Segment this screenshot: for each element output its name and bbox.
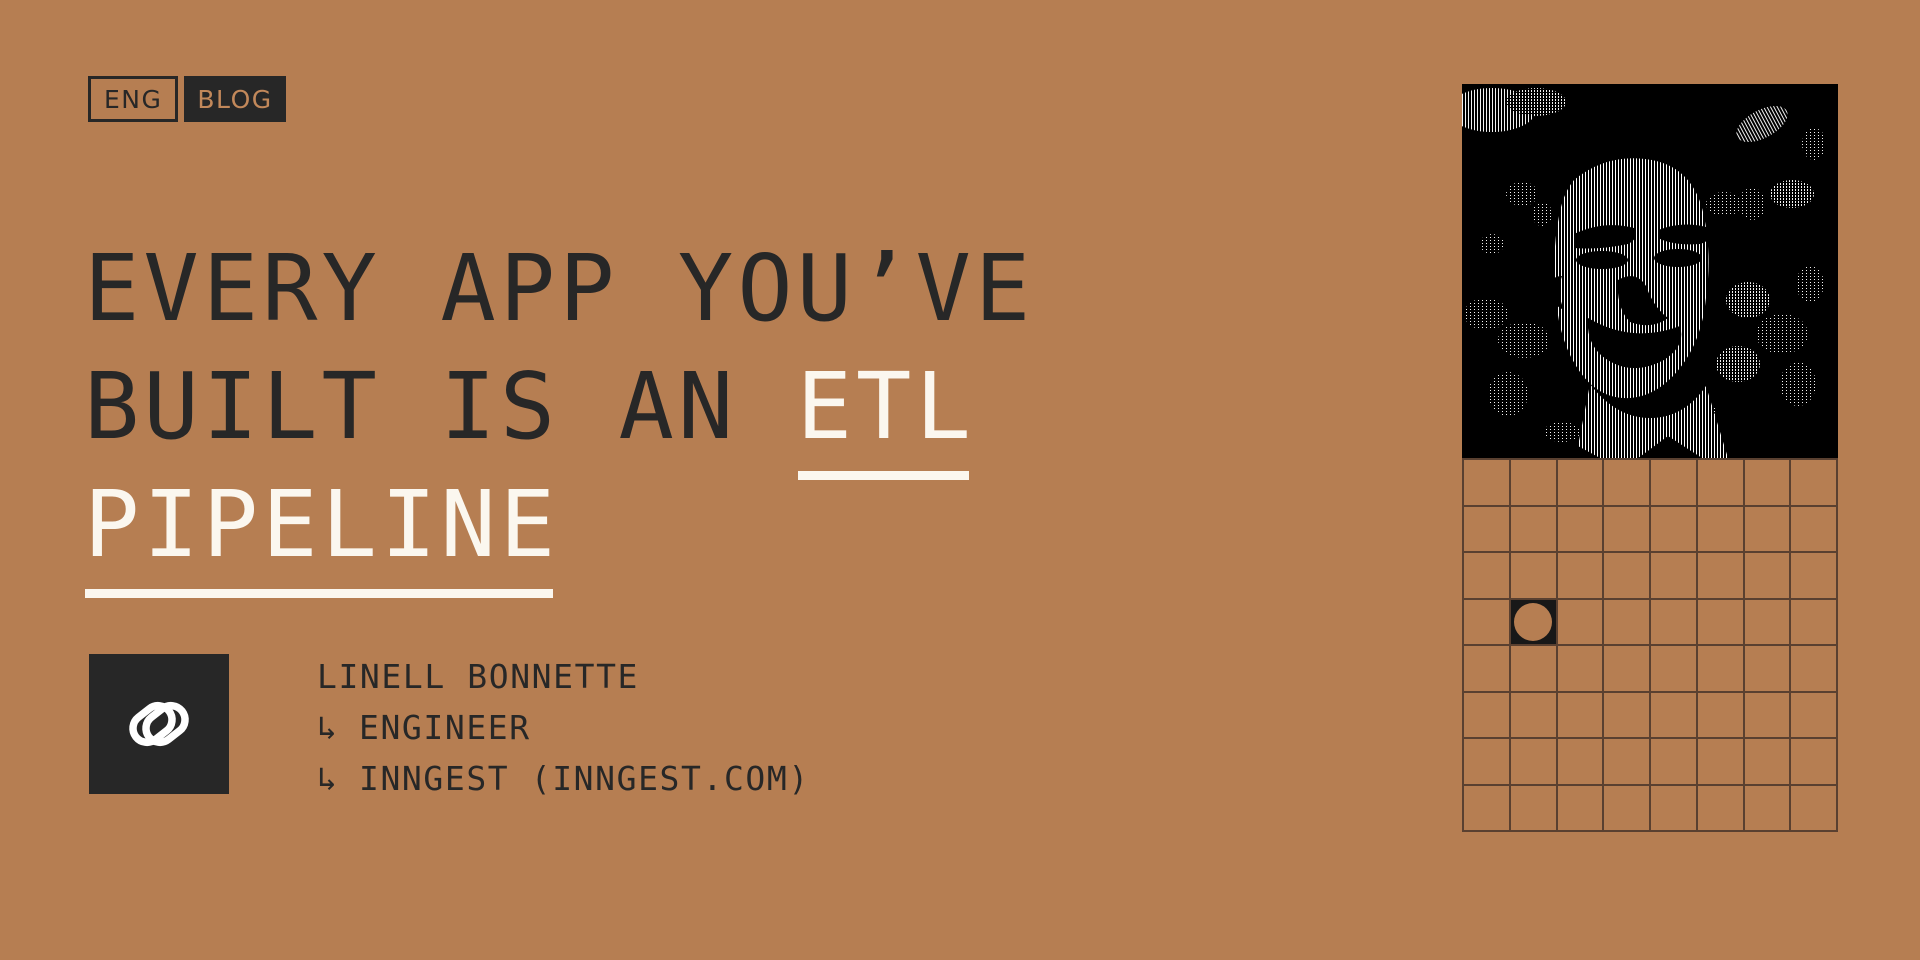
dithered-portrait-photo (1462, 84, 1838, 458)
grid-cell (1558, 786, 1605, 833)
author-role-line: ↳ENGINEER (317, 702, 810, 753)
grid-cell (1558, 507, 1605, 554)
badge-blog[interactable]: BLOG (184, 76, 285, 122)
grid-cell (1558, 460, 1605, 507)
grid-cell (1558, 600, 1605, 647)
blog-share-card: ENG BLOG EVERY APP YOU’VE BUILT IS AN ET… (0, 0, 1920, 960)
grid-cell (1791, 460, 1838, 507)
grid-cell (1558, 646, 1605, 693)
grid-cell (1698, 693, 1745, 740)
grid-cell (1464, 460, 1511, 507)
grid-cell (1791, 693, 1838, 740)
grid-cell (1464, 553, 1511, 600)
grid-cell (1791, 739, 1838, 786)
author-name: LINELL BONNETTE (317, 651, 810, 702)
grid-cell (1558, 739, 1605, 786)
inngest-logo-icon (89, 654, 229, 794)
grid-cell (1651, 693, 1698, 740)
badge-blog-label: BLOG (197, 87, 272, 112)
author-company: INNGEST (INNGEST.COM) (359, 759, 810, 798)
grid-cell (1745, 600, 1792, 647)
grid-cell (1698, 786, 1745, 833)
grid-cell (1791, 786, 1838, 833)
arrow-icon: ↳ (317, 753, 359, 804)
author-details: LINELL BONNETTE ↳ENGINEER ↳INNGEST (INNG… (317, 651, 810, 804)
grid-cell (1745, 646, 1792, 693)
author-block: LINELL BONNETTE ↳ENGINEER ↳INNGEST (INNG… (89, 654, 810, 804)
grid-cell (1558, 553, 1605, 600)
grid-cell (1698, 600, 1745, 647)
visual-panel (1462, 84, 1838, 832)
grid-cell (1558, 693, 1605, 740)
grid-cell (1604, 739, 1651, 786)
headline-line-1-text: EVERY APP YOU’VE (84, 235, 1034, 342)
headline-line-3: PIPELINE (84, 466, 1334, 584)
grid-cell (1604, 507, 1651, 554)
grid-cell (1604, 646, 1651, 693)
grid-cell (1745, 739, 1792, 786)
grid-cell (1651, 460, 1698, 507)
author-company-line: ↳INNGEST (INNGEST.COM) (317, 753, 810, 804)
grid-cell (1651, 786, 1698, 833)
grid-cell (1698, 460, 1745, 507)
grid-cell (1651, 646, 1698, 693)
page-title: EVERY APP YOU’VE BUILT IS AN ETL PIPELIN… (84, 230, 1334, 584)
grid-cell (1698, 646, 1745, 693)
grid-cell (1745, 693, 1792, 740)
grid-cell (1651, 553, 1698, 600)
grid-cell (1511, 507, 1558, 554)
grid-cell (1604, 693, 1651, 740)
grid-cell (1511, 739, 1558, 786)
grid-cell (1651, 507, 1698, 554)
grid-cell (1511, 786, 1558, 833)
grid-cell (1698, 507, 1745, 554)
grid-cell (1651, 600, 1698, 647)
grid-cell (1464, 693, 1511, 740)
grid-cell (1464, 600, 1511, 647)
grid-cell (1604, 460, 1651, 507)
grid-cell (1604, 600, 1651, 647)
grid-cell-marked-circle (1511, 600, 1558, 647)
arrow-icon: ↳ (317, 702, 359, 753)
grid-cell (1698, 739, 1745, 786)
grid-cell (1791, 553, 1838, 600)
author-role: ENGINEER (359, 708, 531, 747)
badge-group: ENG BLOG (88, 76, 286, 122)
grid-cell (1745, 460, 1792, 507)
grid-cell (1791, 507, 1838, 554)
headline-accent-pipeline: PIPELINE (84, 466, 559, 584)
grid-cell (1511, 646, 1558, 693)
headline-accent-etl: ETL (797, 348, 975, 466)
grid-cell (1791, 646, 1838, 693)
grid-cell (1511, 553, 1558, 600)
grid-cell (1464, 786, 1511, 833)
grid-cell (1745, 786, 1792, 833)
grid-cell (1464, 507, 1511, 554)
grid-cell (1464, 646, 1511, 693)
grid-cell (1511, 460, 1558, 507)
decorative-grid (1462, 458, 1838, 832)
grid-cell (1651, 739, 1698, 786)
badge-eng[interactable]: ENG (88, 76, 178, 122)
grid-cell (1745, 507, 1792, 554)
grid-cell (1511, 693, 1558, 740)
grid-cell (1464, 739, 1511, 786)
grid-cell (1698, 553, 1745, 600)
headline-line-2: BUILT IS AN ETL (84, 348, 1334, 466)
grid-cell (1604, 786, 1651, 833)
badge-eng-label: ENG (104, 87, 162, 112)
headline-line-1: EVERY APP YOU’VE (84, 230, 1334, 348)
headline-line-2-text: BUILT IS AN (84, 353, 797, 460)
grid-cell (1604, 553, 1651, 600)
grid-cell (1745, 553, 1792, 600)
grid-cell (1791, 600, 1838, 647)
